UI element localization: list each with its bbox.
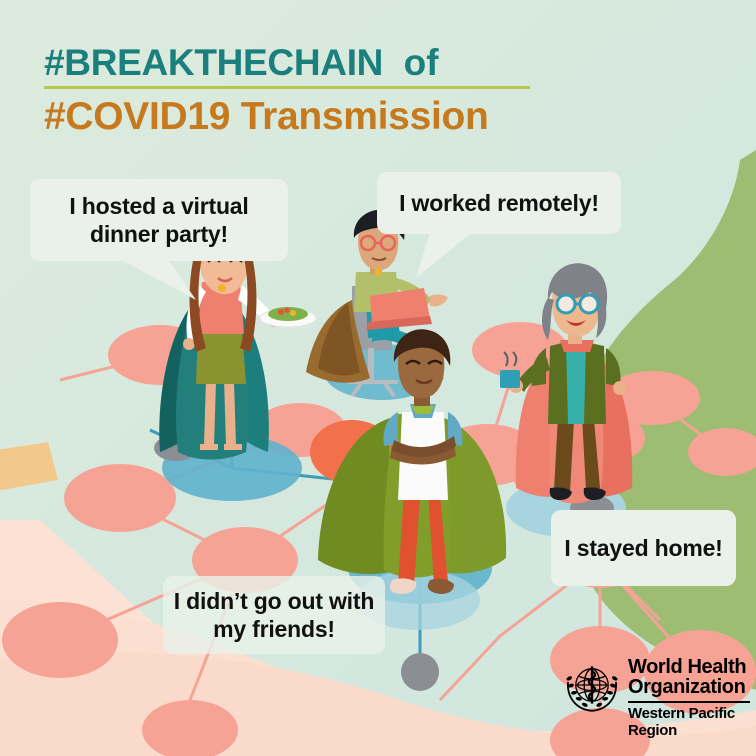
who-name-line-1: World Health bbox=[628, 657, 750, 677]
speech-bubble-didnt-go-out: I didn’t go out with my friends! bbox=[163, 576, 385, 654]
who-emblem-icon bbox=[562, 658, 622, 718]
bubble-tail-dinner bbox=[120, 259, 196, 300]
speech-bubble-worked-remotely: I worked remotely! bbox=[377, 172, 621, 234]
speech-bubble-text: I worked remotely! bbox=[389, 189, 609, 217]
bubble-tail-remote bbox=[416, 232, 472, 278]
who-region-label: Western Pacific Region bbox=[628, 705, 750, 739]
who-logo-text: World Health Organization Western Pacifi… bbox=[628, 657, 750, 739]
speech-bubble-hosted-dinner: I hosted a virtual dinner party! bbox=[30, 179, 288, 261]
who-organization-name: World Health Organization bbox=[628, 657, 750, 698]
who-name-line-2: Organization bbox=[628, 677, 750, 697]
speech-bubble-stayed-home: I stayed home! bbox=[551, 510, 736, 586]
speech-bubble-text: I didn’t go out with my friends! bbox=[163, 587, 385, 643]
speech-bubble-text: I hosted a virtual dinner party! bbox=[30, 192, 288, 248]
who-logo: World Health Organization Western Pacifi… bbox=[562, 657, 738, 729]
who-divider-rule bbox=[628, 701, 750, 703]
poster-canvas: #BREAKTHECHAIN of #COVID19 Transmission … bbox=[0, 0, 756, 756]
speech-bubble-text: I stayed home! bbox=[554, 534, 732, 562]
